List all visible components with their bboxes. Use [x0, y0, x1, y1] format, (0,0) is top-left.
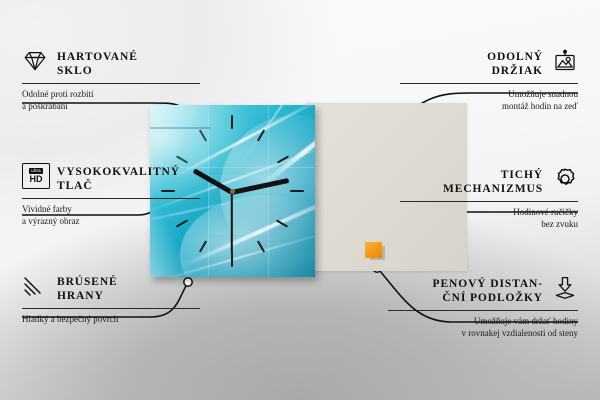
clock-hands-hub: [230, 189, 235, 194]
feature-header: TICHÝ MECHANIZMUS: [400, 168, 578, 196]
feature-tempered-glass: HARTOVANÉ SKLO Odolné proti rozbití a po…: [22, 50, 200, 112]
gear-icon: [552, 166, 578, 192]
clock-grid-v2: [268, 105, 269, 277]
feature-title: PENOVÝ DISTAN- ČNÍ PODLOŽKY: [433, 277, 543, 305]
feature-durable-holder: ODOLNÝ DRŽIAK Umožňuje snadnou montáž ho…: [400, 50, 578, 112]
ultra-hd-badge-icon: ultra HD: [22, 163, 48, 189]
feature-divider: [388, 310, 578, 311]
clock-grid-h2: [150, 127, 210, 129]
second-hand: [231, 192, 233, 254]
feature-title: BRÚSENÉ HRANY: [57, 275, 118, 303]
feature-title: ODOLNÝ DRŽIAK: [487, 50, 543, 78]
hour-marker-6: [231, 253, 233, 267]
feature-divider: [22, 198, 200, 199]
feature-desc-line2: bez zvuku: [400, 218, 578, 230]
feature-desc-line1: Vividné farby: [22, 203, 200, 215]
feature-divider: [400, 201, 578, 202]
feature-desc-line2: a poškrábání: [22, 100, 200, 112]
diamond-icon: [22, 48, 48, 74]
feature-desc-line1: Odolné proti rozbití: [22, 88, 200, 100]
beveled-edge-icon: [22, 273, 48, 299]
feature-desc-line1: Umožňuje snadnou: [400, 88, 578, 100]
feature-divider: [400, 83, 578, 84]
feature-high-quality-print: ultra HD VYSOKOKVALITNÝ TLAČ Vividné far…: [22, 165, 200, 227]
feature-divider: [22, 308, 200, 309]
wall-hanging-frame-icon: [552, 48, 578, 74]
feature-desc-line1: Hladký a bezpečný povrch: [22, 313, 200, 325]
feature-divider: [22, 83, 200, 84]
foam-spacer-arrow-icon: [552, 275, 578, 301]
feature-header: PENOVÝ DISTAN- ČNÍ PODLOŽKY: [388, 277, 578, 305]
hour-marker-3: [290, 190, 304, 192]
feature-title: HARTOVANÉ SKLO: [57, 50, 138, 78]
feature-silent-mechanism: TICHÝ MECHANIZMUS Hodinové ručičky bez z…: [400, 168, 578, 230]
hour-marker-12: [231, 115, 233, 129]
clock-grid-v1: [208, 105, 209, 277]
feature-desc-line2: a výrazný obraz: [22, 215, 200, 227]
hd-badge-hd-label: HD: [30, 175, 43, 184]
feature-desc-line2: v rovnakej vzdialenosti od steny: [388, 327, 578, 339]
feature-desc-line2: montáž hodin na zeď: [400, 100, 578, 112]
feature-header: ultra HD VYSOKOKVALITNÝ TLAČ: [22, 165, 200, 193]
feature-header: HARTOVANÉ SKLO: [22, 50, 200, 78]
hd-badge: ultra HD: [22, 163, 50, 189]
infographic-canvas: HARTOVANÉ SKLO Odolné proti rozbití a po…: [0, 0, 600, 400]
feature-desc-line1: Umožňuje vám držať hodiny: [388, 315, 578, 327]
foam-spacer-pad: [365, 242, 382, 258]
feature-desc-line1: Hodinové ručičky: [400, 206, 578, 218]
feature-title: TICHÝ MECHANIZMUS: [443, 168, 543, 196]
feature-header: ODOLNÝ DRŽIAK: [400, 50, 578, 78]
feature-beveled-edges: BRÚSENÉ HRANY Hladký a bezpečný povrch: [22, 275, 200, 325]
feature-foam-spacers: PENOVÝ DISTAN- ČNÍ PODLOŽKY Umožňuje vám…: [388, 277, 578, 339]
feature-header: BRÚSENÉ HRANY: [22, 275, 200, 303]
feature-title: VYSOKOKVALITNÝ TLAČ: [57, 165, 180, 193]
